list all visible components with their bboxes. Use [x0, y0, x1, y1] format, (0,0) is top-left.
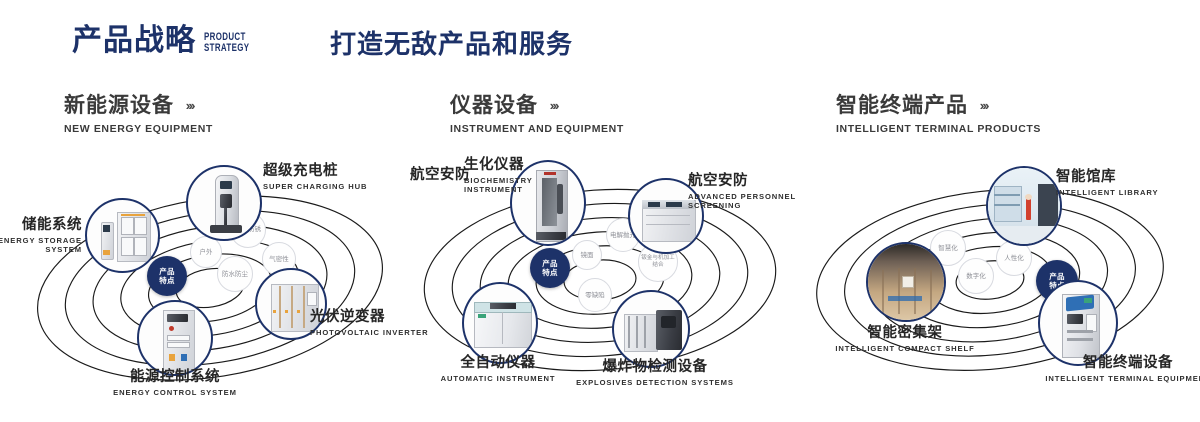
section-title-cn: 仪器设备 — [450, 95, 538, 116]
node-label-en: EXPLOSIVES DETECTION SYSTEMS — [570, 378, 740, 387]
feature-bubble: 零缺陷 — [578, 278, 612, 312]
page-title: 产品战略 — [72, 26, 196, 56]
node-label-cn: 爆炸物检测设备 — [570, 360, 740, 376]
self-service-kiosk-icon — [1040, 282, 1116, 364]
node-label-energy-control: 能源控制系统 ENERGY CONTROL SYSTEM — [90, 370, 260, 397]
explosive-detector-icon — [614, 292, 688, 366]
page-header: 产品战略 PRODUCT STRATEGY — [72, 26, 267, 56]
section-title-en: NEW ENERGY EQUIPMENT — [64, 123, 213, 135]
node-automatic-instrument[interactable] — [462, 282, 538, 364]
control-cabinet-icon — [139, 302, 211, 374]
chevrons-right-icon: ››› — [550, 98, 558, 113]
node-compact-shelf[interactable] — [866, 242, 946, 322]
automatic-instrument-icon — [464, 284, 536, 362]
section-title-cn: 新能源设备 — [64, 95, 174, 116]
node-label-en: ENERGY STORAGE SYSTEM — [0, 236, 82, 255]
node-label-biochemistry: 生化仪器 BIOCHEMISTRY INSTRUMENT — [464, 158, 564, 195]
diagram-intelligent-terminal: 智慧化 数字化 人性化 产品 特点 智能馆库 INTELLIGEN — [790, 158, 1190, 408]
node-label-en: BIOCHEMISTRY INSTRUMENT — [464, 176, 564, 195]
node-label-cn: 超级充电桩 — [263, 164, 383, 180]
feature-bubble: 镜面 — [572, 240, 602, 270]
node-explosives-detection[interactable] — [612, 290, 690, 368]
core-bubble-line1: 产品 — [159, 267, 175, 276]
node-label-en: AUTOMATIC INSTRUMENT — [418, 374, 578, 383]
node-label-cn: 全自动仪器 — [418, 356, 578, 372]
diagram-new-energy: 产品 特点 户外 防腐防锈 防水防尘 气密性 储能系统 ENERGY S — [10, 160, 410, 410]
core-bubble-line2: 特点 — [542, 268, 558, 277]
node-label-compact-shelf: 智能密集架 INTELLIGENT COMPACT SHELF — [820, 326, 990, 353]
node-terminal-kiosk[interactable] — [1038, 280, 1118, 366]
section-heading-instrument: 仪器设备 ››› INSTRUMENT AND EQUIPMENT — [450, 95, 624, 135]
node-label-smart-library: 智能馆库 INTELLIGENT LIBRARY — [1056, 170, 1186, 197]
node-label-cn: 智能馆库 — [1056, 170, 1186, 186]
core-bubble-line1: 产品 — [1049, 272, 1065, 281]
node-label-en: ENERGY CONTROL SYSTEM — [90, 388, 260, 397]
chevrons-right-icon: ››› — [980, 98, 988, 113]
node-label-en: INTELLIGENT COMPACT SHELF — [820, 344, 990, 353]
feature-bubble: 数字化 — [958, 258, 994, 294]
section-heading-intelligent-terminal: 智能终端产品 ››› INTELLIGENT TERMINAL PRODUCTS — [836, 95, 1041, 135]
node-label-en: INTELLIGENT LIBRARY — [1056, 188, 1186, 197]
node-label-terminal-equipment: 智能终端设备 INTELLIGENT TERMINAL EQUIPMENT — [1038, 356, 1200, 383]
section-heading-new-energy: 新能源设备 ››› NEW ENERGY EQUIPMENT — [64, 95, 213, 135]
section-title-en: INSTRUMENT AND EQUIPMENT — [450, 123, 624, 135]
feature-bubble: 防水防尘 — [217, 256, 253, 292]
section-title-en: INTELLIGENT TERMINAL PRODUCTS — [836, 123, 1041, 135]
node-label-energy-storage: 储能系统 ENERGY STORAGE SYSTEM — [0, 218, 82, 255]
diagram-instrument: 产品 特点 镜面 电解抛光 零缺陷 钣金与机加工结合 航空安防 生化仪器 BIO… — [400, 160, 800, 410]
node-label-cn: 智能密集架 — [820, 326, 990, 342]
page-title-en-line2: STRATEGY — [204, 43, 249, 54]
node-label-en: INTELLIGENT TERMINAL EQUIPMENT — [1038, 374, 1200, 383]
node-energy-control[interactable] — [137, 300, 213, 376]
node-energy-storage[interactable] — [85, 198, 160, 273]
core-bubble: 产品 特点 — [530, 248, 570, 288]
poster-canvas: 产品战略 PRODUCT STRATEGY 打造无敌产品和服务 新能源设备 ››… — [0, 0, 1200, 422]
node-super-charging-hub[interactable] — [186, 165, 262, 241]
node-label-en: SUPER CHARGING HUB — [263, 182, 383, 191]
node-label-cn: 能源控制系统 — [90, 370, 260, 386]
node-label-aviation-security-left: 航空安防 — [390, 168, 470, 184]
node-label-cn: 生化仪器 — [464, 158, 564, 174]
smart-library-icon — [988, 168, 1060, 244]
energy-storage-cabinet-icon — [87, 200, 158, 271]
node-label-cn: 智能终端设备 — [1038, 356, 1200, 372]
page-subtitle: 打造无敌产品和服务 — [330, 30, 573, 61]
ev-charging-pile-icon — [188, 167, 260, 239]
compact-shelf-icon — [868, 244, 944, 320]
chevrons-right-icon: ››› — [186, 98, 194, 113]
node-label-automatic-instrument: 全自动仪器 AUTOMATIC INSTRUMENT — [418, 356, 578, 383]
core-bubble-line1: 产品 — [542, 259, 558, 268]
node-label-cn: 储能系统 — [0, 218, 82, 234]
page-title-en: PRODUCT STRATEGY — [204, 32, 249, 54]
feature-bubble: 户外 — [190, 236, 222, 268]
core-bubble-line2: 特点 — [159, 276, 175, 285]
node-label-explosives: 爆炸物检测设备 EXPLOSIVES DETECTION SYSTEMS — [570, 360, 740, 387]
node-smart-library[interactable] — [986, 166, 1062, 246]
node-label-cn: 航空安防 — [390, 168, 470, 184]
section-title-cn: 智能终端产品 — [836, 95, 968, 116]
node-label-super-charging-hub: 超级充电桩 SUPER CHARGING HUB — [263, 164, 383, 191]
